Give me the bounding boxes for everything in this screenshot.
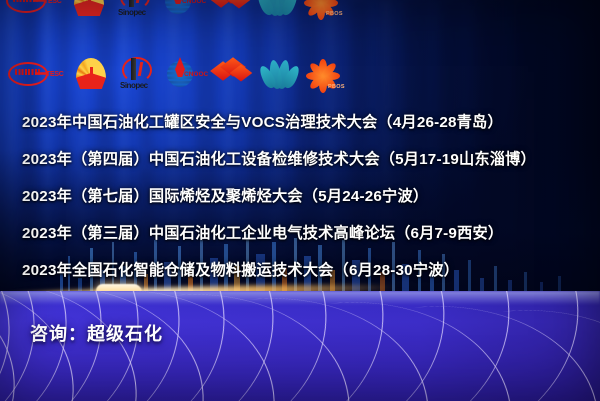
petrochina-logo xyxy=(69,0,109,20)
sponsor-logo-row: TESC Sinopec CNOOC PBOS xyxy=(8,55,346,93)
conference-line: 2023年中国石油化工罐区安全与VOCS治理技术大会（4月26-28青岛） xyxy=(22,102,590,139)
lotus-logo xyxy=(257,0,297,20)
conference-poster: TESC Sinopec CNOOC PBOS xyxy=(0,0,600,401)
sinopec-logo-label: Sinopec xyxy=(120,81,148,90)
petrochina-logo xyxy=(71,55,111,93)
tesc-logo: TESC xyxy=(6,0,62,20)
conference-line: 2023年全国石化智能仓储及物料搬运技术大会（6月28-30宁波） xyxy=(22,250,590,287)
curved-light-ground xyxy=(0,291,600,401)
lotus-logo xyxy=(259,55,299,93)
conference-line: 2023年（第七届）国际烯烃及聚烯烃大会（5月24-26宁波） xyxy=(22,176,590,213)
diamond-logo xyxy=(212,55,252,93)
contact-cta: 咨询：超级石化 xyxy=(30,320,163,346)
cnooc-logo-label: CNOOC xyxy=(184,71,208,78)
diamond-logo xyxy=(210,0,250,20)
conference-line: 2023年（第四届）中国石油化工设备检维修技术大会（5月17-19山东淄博） xyxy=(22,139,590,176)
tesc-logo-label: TESC xyxy=(44,0,61,5)
conference-list: 2023年中国石油化工罐区安全与VOCS治理技术大会（4月26-28青岛） 20… xyxy=(22,102,590,287)
cnooc-logo: CNOOC xyxy=(163,0,203,20)
sinopec-logo: Sinopec xyxy=(116,0,156,20)
sinopec-logo: Sinopec xyxy=(118,55,158,93)
sponsor-logo-row-top-cropped: TESC Sinopec CNOOC PBOS xyxy=(6,0,344,20)
conference-line: 2023年（第三届）中国石油化工企业电气技术高峰论坛（6月7-9西安） xyxy=(22,213,590,250)
cnooc-logo: CNOOC xyxy=(165,55,205,93)
pinwheel-logo: PBOS xyxy=(306,55,346,93)
tesc-logo-label: TESC xyxy=(46,71,63,78)
pinwheel-logo: PBOS xyxy=(304,0,344,20)
pinwheel-logo-label: PBOS xyxy=(326,11,343,17)
tesc-logo: TESC xyxy=(8,55,64,93)
ground-arc-lines xyxy=(0,291,600,401)
sinopec-logo-label: Sinopec xyxy=(118,8,146,17)
pinwheel-logo-label: PBOS xyxy=(328,84,345,90)
cnooc-logo-label: CNOOC xyxy=(182,0,206,5)
